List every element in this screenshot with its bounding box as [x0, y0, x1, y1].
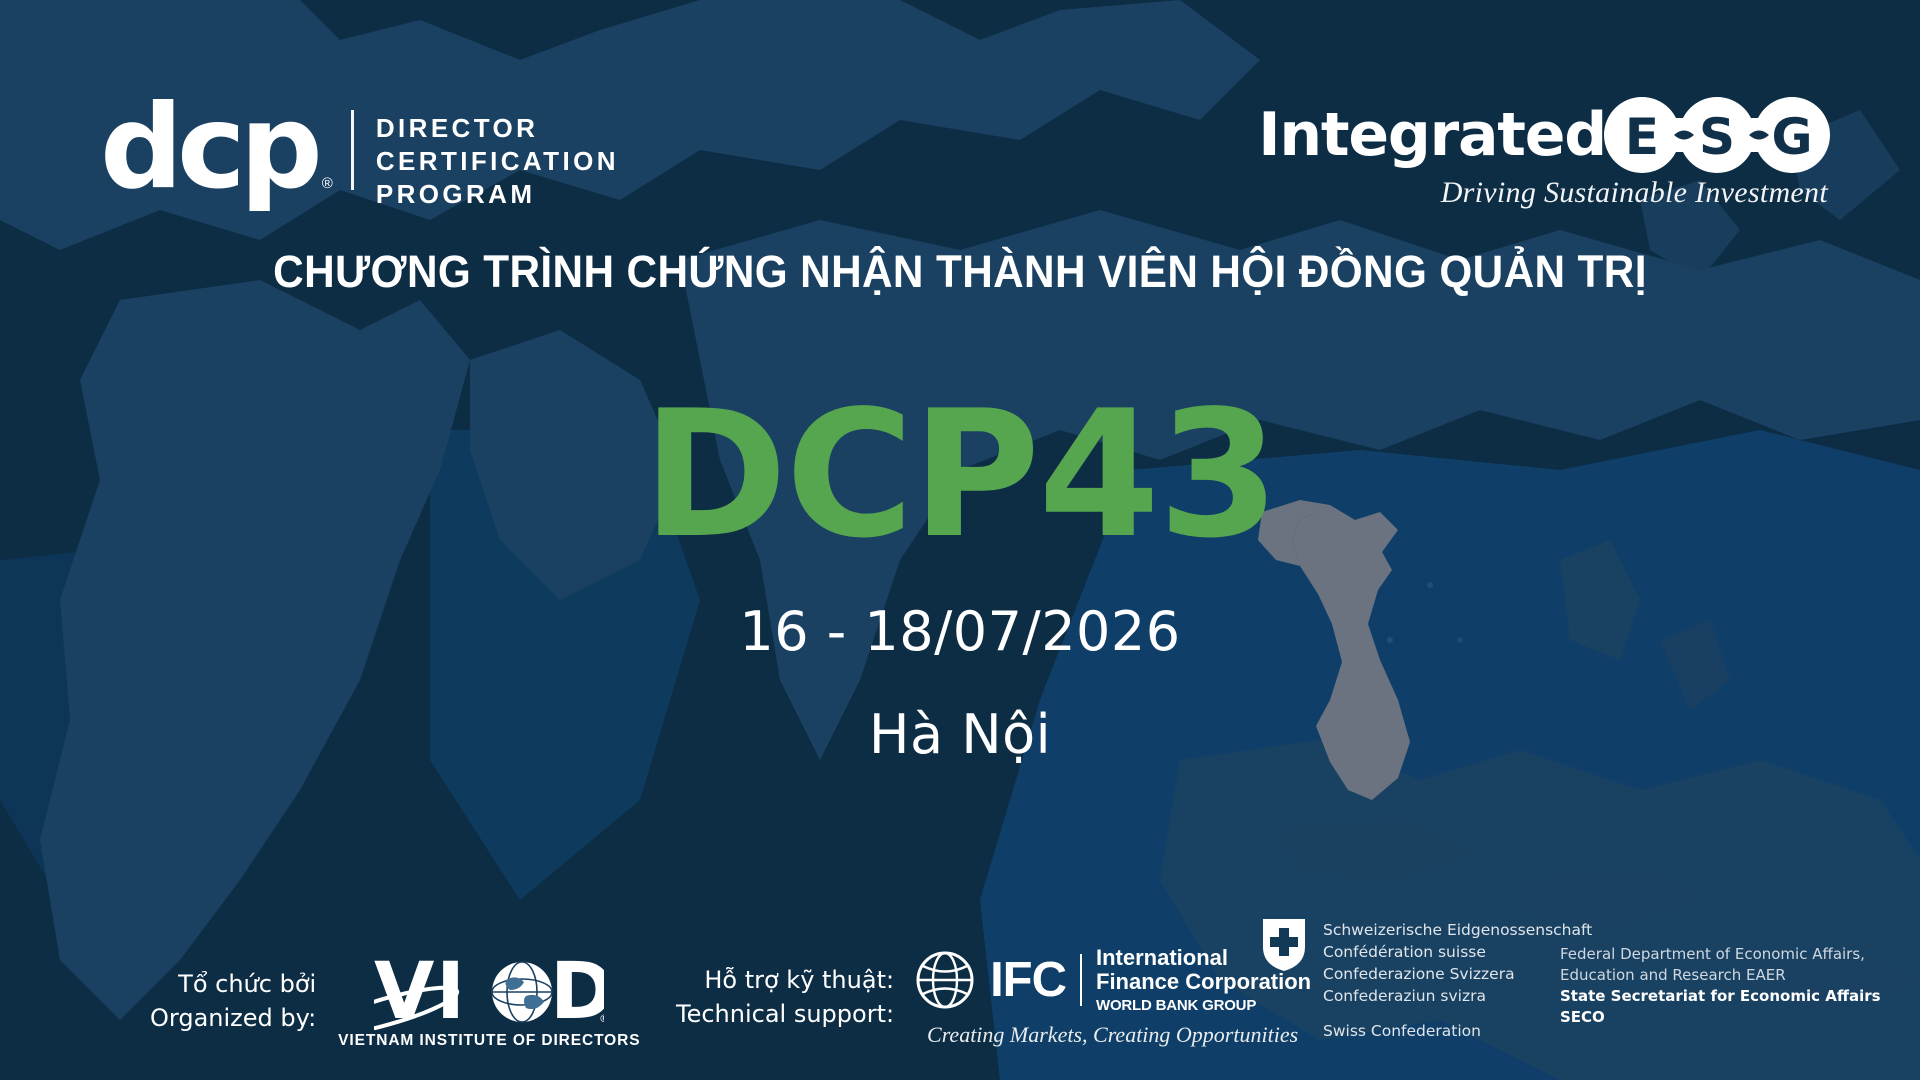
- integrated-esg-logo: Integrated E S G Dri: [1258, 96, 1832, 210]
- seco-line-2: Education and Research EAER: [1560, 965, 1920, 986]
- registered-mark-icon: ®: [322, 175, 333, 192]
- svg-text:®: ®: [599, 1012, 604, 1025]
- organizer-label-vi: Tổ chức bởi: [150, 967, 316, 1001]
- technical-support-label-en: Technical support:: [676, 997, 894, 1031]
- dcp-subtitle: DIRECTOR CERTIFICATION PROGRAM: [376, 98, 619, 210]
- swiss-line-3: Confederazione Svizzera: [1323, 963, 1592, 985]
- svg-text:S: S: [1699, 108, 1735, 166]
- ifc-logo: IFC International Finance Corporation WO…: [914, 946, 1311, 1048]
- svg-text:E: E: [1625, 108, 1659, 166]
- technical-support-label: Hỗ trợ kỹ thuật: Technical support:: [676, 963, 894, 1031]
- seco-line-1: Federal Department of Economic Affairs,: [1560, 944, 1920, 965]
- seco-line-3: State Secretariat for Economic Affairs S…: [1560, 986, 1920, 1028]
- ifc-logo-row: IFC International Finance Corporation WO…: [914, 946, 1311, 1014]
- svg-text:G: G: [1771, 108, 1812, 166]
- swiss-confederation-block: Schweizerische Eidgenossenschaft Confédé…: [1263, 919, 1592, 1042]
- organizer-label-en: Organized by:: [150, 1001, 316, 1035]
- integrated-word: Integrated: [1258, 105, 1606, 165]
- organizer-label: Tổ chức bởi Organized by:: [150, 967, 316, 1035]
- svg-text:D: D: [550, 952, 604, 1030]
- header-logos: dcp ® DIRECTOR CERTIFICATION PROGRAM Int…: [0, 0, 1920, 230]
- swiss-names: Schweizerische Eidgenossenschaft Confédé…: [1323, 919, 1592, 1042]
- technical-support-block: Hỗ trợ kỹ thuật: Technical support: IFC: [676, 946, 1311, 1048]
- swiss-line-2: Confédération suisse: [1323, 941, 1592, 963]
- dcp-logo-divider: [351, 110, 354, 190]
- event-date: 16 - 18/07/2026: [0, 600, 1920, 663]
- viod-wordmark: V I D ®: [374, 952, 604, 1030]
- viod-logo: V I D ® VIETN: [338, 952, 640, 1050]
- ifc-letters: IFC: [990, 956, 1066, 1005]
- esg-tagline: Driving Sustainable Investment: [1258, 176, 1832, 210]
- ifc-divider: [1080, 954, 1082, 1006]
- ifc-tagline: Creating Markets, Creating Opportunities: [914, 1022, 1311, 1048]
- event-city: Hà Nội: [0, 703, 1920, 766]
- dcp-logo: dcp ® DIRECTOR CERTIFICATION PROGRAM: [100, 98, 619, 210]
- organizer-block: Tổ chức bởi Organized by: V I: [150, 952, 640, 1050]
- footer-partners: Tổ chức bởi Organized by: V I: [0, 900, 1920, 1080]
- dcp-subtitle-line-1: DIRECTOR: [376, 112, 619, 145]
- viod-subtitle: VIETNAM INSTITUTE OF DIRECTORS: [338, 1032, 640, 1050]
- integrated-esg-wordmark-row: Integrated E S G: [1258, 96, 1832, 174]
- swiss-spacer: [1323, 1007, 1592, 1020]
- esg-chain-icon: E S G: [1602, 96, 1832, 174]
- page-headline: CHƯƠNG TRÌNH CHỨNG NHẬN THÀNH VIÊN HỘI Đ…: [58, 246, 1863, 298]
- seco-block: Federal Department of Economic Affairs, …: [1560, 944, 1920, 1028]
- swiss-shield-icon: [1263, 919, 1305, 971]
- swiss-line-4: Confederaziun svizra: [1323, 985, 1592, 1007]
- technical-support-label-vi: Hỗ trợ kỹ thuật:: [676, 963, 894, 997]
- dcp-wordmark: dcp ®: [100, 98, 317, 198]
- dcp-wordmark-text: dcp: [100, 98, 317, 198]
- banner-canvas: dcp ® DIRECTOR CERTIFICATION PROGRAM Int…: [0, 0, 1920, 1080]
- swiss-line-1: Schweizerische Eidgenossenschaft: [1323, 919, 1592, 941]
- globe-icon: [914, 949, 976, 1011]
- dcp-subtitle-line-2: CERTIFICATION: [376, 145, 619, 178]
- dcp-subtitle-line-3: PROGRAM: [376, 178, 619, 211]
- swiss-line-en: Swiss Confederation: [1323, 1020, 1592, 1042]
- svg-text:I: I: [436, 952, 465, 1030]
- program-title: DCP43: [0, 388, 1920, 563]
